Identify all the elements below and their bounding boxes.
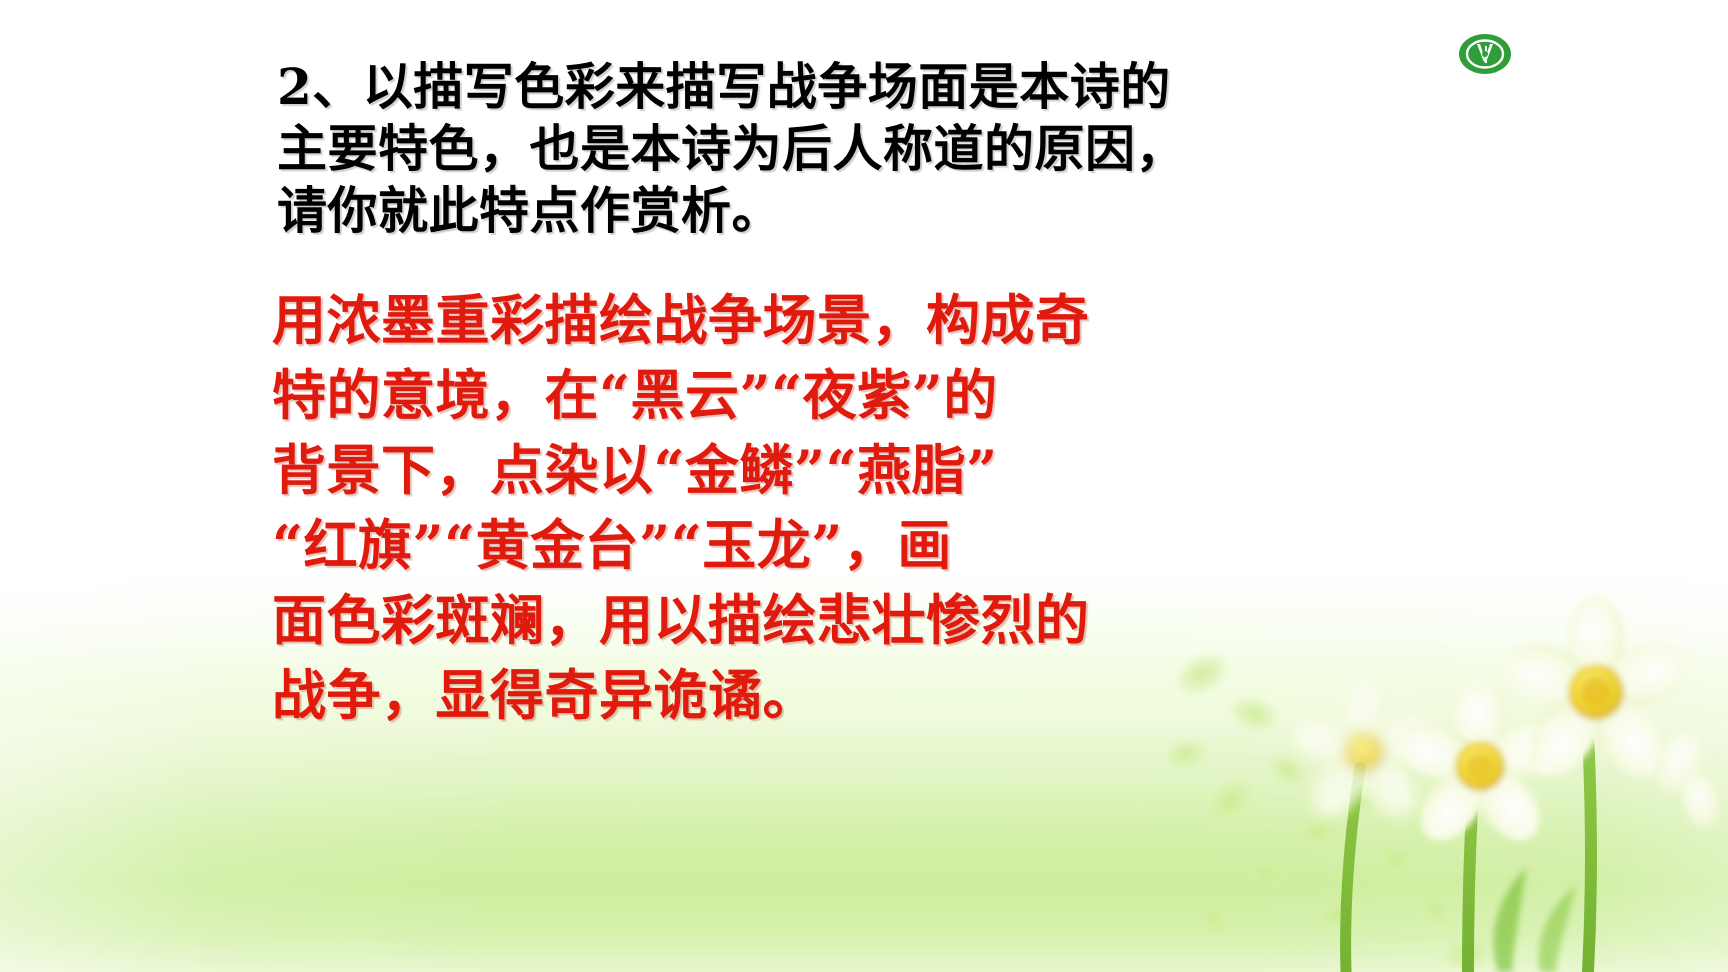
question-line-3: 请你就此特点作赏析。 (277, 180, 1387, 242)
question-text-block: 2、以描写色彩来描写战争场面是本诗的 主要特色，也是本诗为后人称道的原因， 请你… (277, 56, 1387, 242)
answer-line-5: 面色彩斑斓，用以描绘悲壮惨烈的 (272, 583, 1392, 658)
question-line-2: 主要特色，也是本诗为后人称道的原因， (277, 118, 1387, 180)
answer-line-1: 用浓墨重彩描绘战争场景，构成奇 (272, 283, 1392, 358)
slide-canvas: 2、以描写色彩来描写战争场面是本诗的 主要特色，也是本诗为后人称道的原因， 请你… (0, 0, 1728, 972)
answer-line-4: “红旗”“黄金台”“玉龙”，画 (272, 508, 1392, 583)
answer-line-2: 特的意境，在“黑云”“夜紫”的 (272, 358, 1392, 433)
answer-line-6: 战争，显得奇异诡谲。 (272, 658, 1392, 733)
answer-text-block: 用浓墨重彩描绘战争场景，构成奇 特的意境，在“黑云”“夜紫”的 背景下，点染以“… (272, 283, 1392, 733)
answer-line-3: 背景下，点染以“金鳞”“燕脂” (272, 433, 1392, 508)
question-line-1: 2、以描写色彩来描写战争场面是本诗的 (277, 56, 1387, 118)
green-circle-flower-logo-icon (1457, 32, 1513, 76)
